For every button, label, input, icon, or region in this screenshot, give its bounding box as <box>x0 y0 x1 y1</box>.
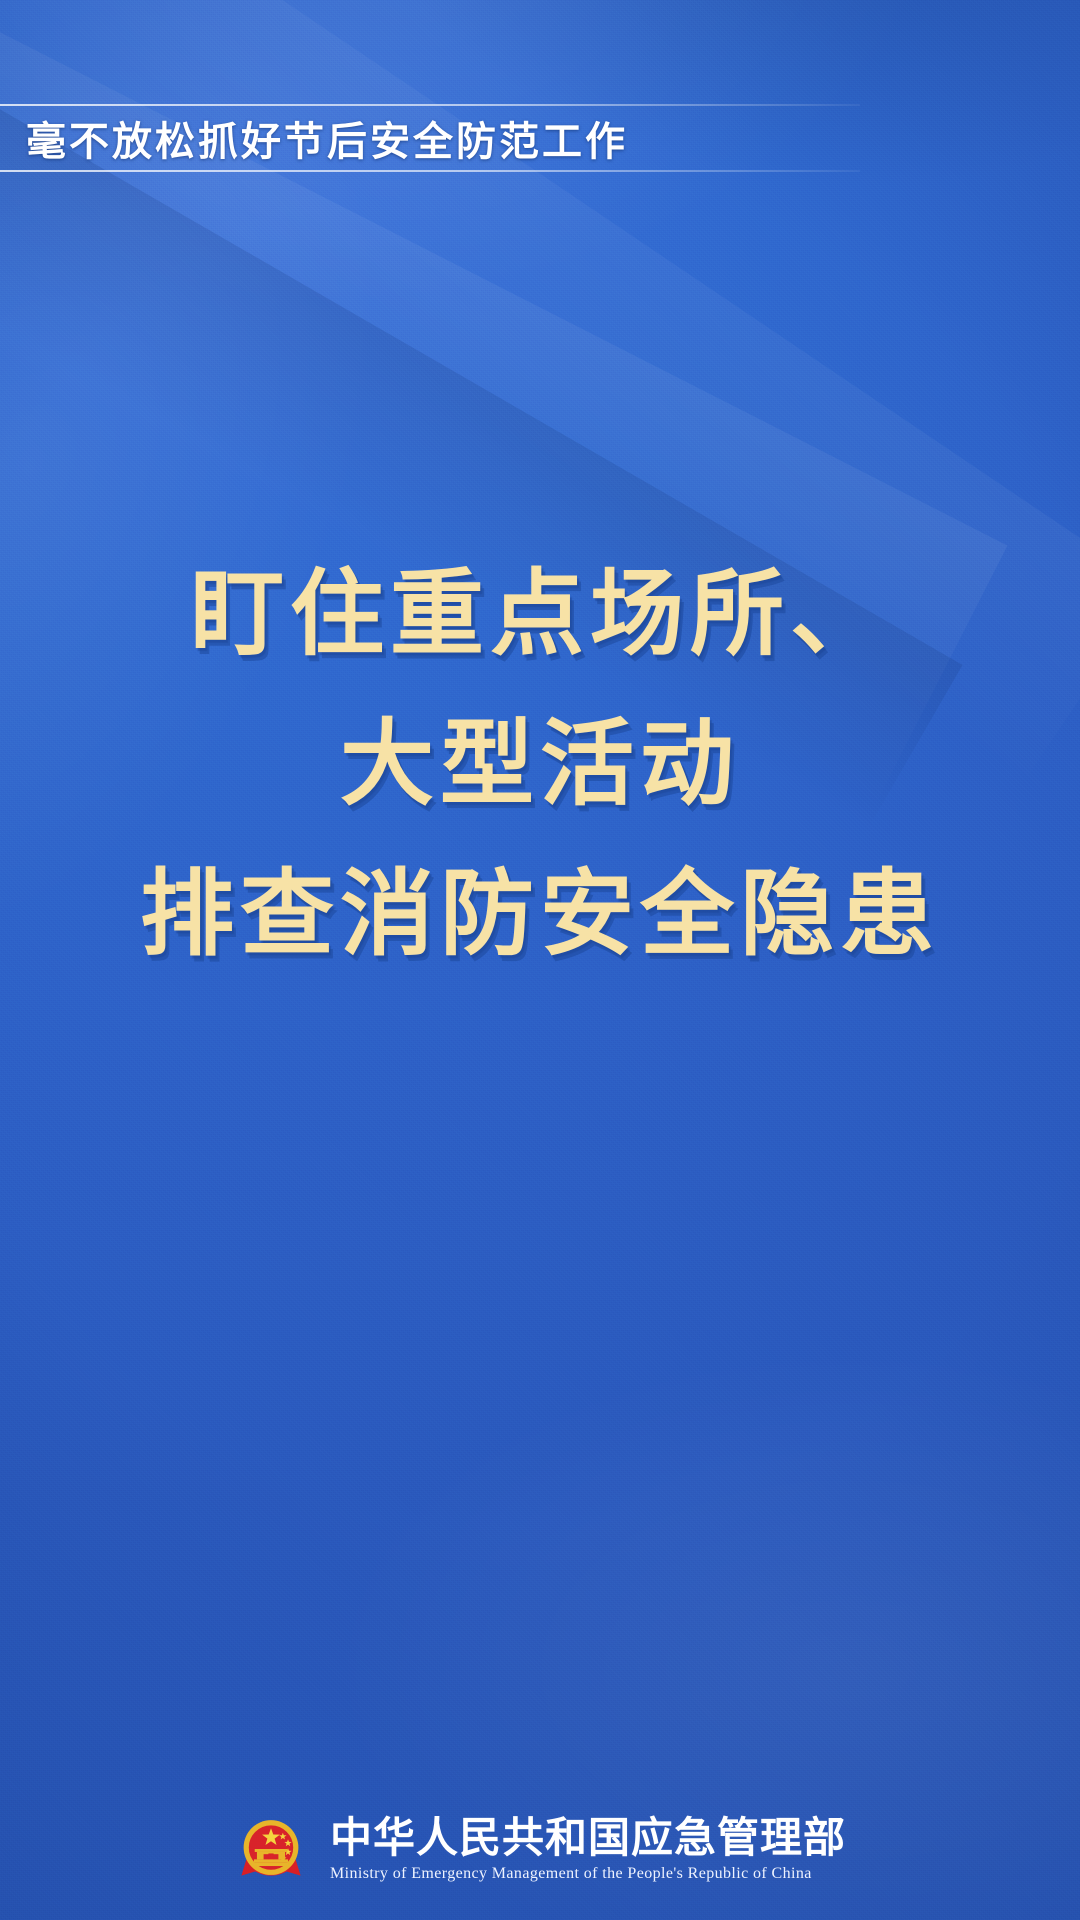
header-rule-top <box>0 104 860 106</box>
headline-line-3: 排查消防安全隐患 <box>0 840 1080 990</box>
headline-line-2: 大型活动 <box>0 690 1080 840</box>
footer-lockup: 中华人民共和国应急管理部 Ministry of Emergency Manag… <box>0 1812 1080 1886</box>
national-emblem-icon <box>234 1812 308 1886</box>
header-title: 毫不放松抓好节后安全防范工作 <box>26 109 628 167</box>
headline-line-1: 盯住重点场所、 <box>0 540 1080 690</box>
poster-canvas: 毫不放松抓好节后安全防范工作 盯住重点场所、 大型活动 排查消防安全隐患 <box>0 0 1080 1920</box>
organization-name-en: Ministry of Emergency Management of the … <box>330 1865 812 1883</box>
headline-block: 盯住重点场所、 大型活动 排查消防安全隐患 <box>0 540 1080 990</box>
header-rule-bottom <box>0 170 860 172</box>
header-band: 毫不放松抓好节后安全防范工作 <box>0 104 860 172</box>
organization-name-cn: 中华人民共和国应急管理部 <box>330 1815 846 1860</box>
footer-text-block: 中华人民共和国应急管理部 Ministry of Emergency Manag… <box>330 1815 846 1884</box>
